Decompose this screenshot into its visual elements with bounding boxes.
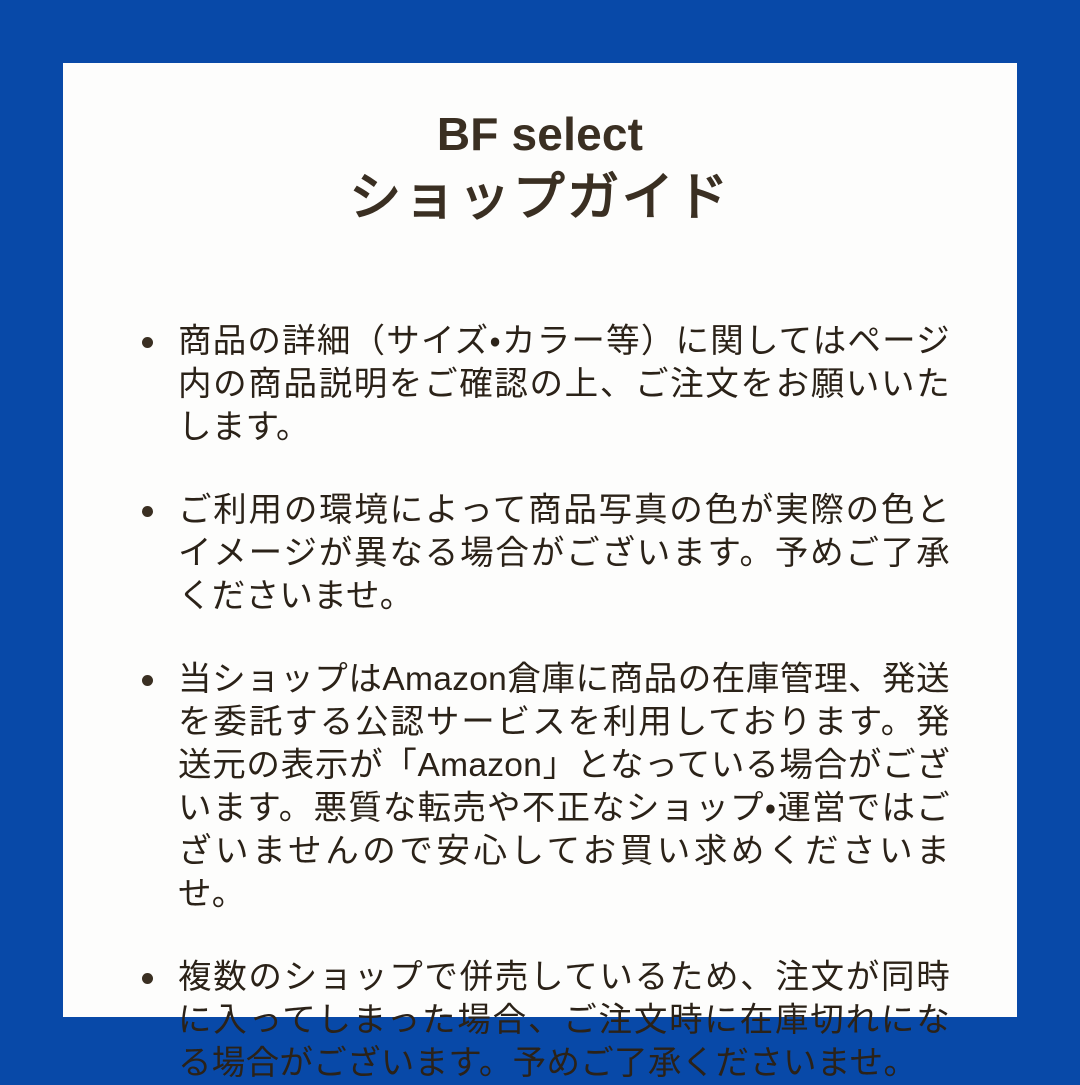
- bullet-dot-icon: [142, 506, 153, 517]
- title-japanese: ショップガイド: [63, 167, 1017, 230]
- bullet-dot-icon: [142, 973, 153, 984]
- list-item-text: 商品の詳細（サイズ・カラー等）に関してはページ内の商品説明をご確認の上、ご注文を…: [178, 320, 950, 449]
- bullet-dot-icon: [142, 675, 153, 686]
- page-title: BF select ショップガイド: [63, 108, 1017, 231]
- bullet-dot-icon: [142, 337, 153, 348]
- list-item: ご利用の環境によって商品写真の色が実際の色とイメージが異なる場合がございます。予…: [130, 489, 950, 618]
- guide-notes-list: 商品の詳細（サイズ・カラー等）に関してはページ内の商品説明をご確認の上、ご注文を…: [130, 320, 950, 1085]
- list-item-text: 当ショップはAmazon倉庫に商品の在庫管理、発送を委託する公認サービスを利用し…: [178, 658, 950, 916]
- list-item: 複数のショップで併売しているため、注文が同時に入ってしまった場合、ご注文時に在庫…: [130, 956, 950, 1085]
- list-item-text: ご利用の環境によって商品写真の色が実際の色とイメージが異なる場合がございます。予…: [178, 489, 950, 618]
- title-english: BF select: [63, 108, 1017, 161]
- list-item: 当ショップはAmazon倉庫に商品の在庫管理、発送を委託する公認サービスを利用し…: [130, 658, 950, 916]
- list-item-text: 複数のショップで併売しているため、注文が同時に入ってしまった場合、ご注文時に在庫…: [178, 956, 950, 1085]
- guide-card: BF select ショップガイド 商品の詳細（サイズ・カラー等）に関してはペー…: [63, 63, 1017, 1017]
- list-item: 商品の詳細（サイズ・カラー等）に関してはページ内の商品説明をご確認の上、ご注文を…: [130, 320, 950, 449]
- blue-border-frame: BF select ショップガイド 商品の詳細（サイズ・カラー等）に関してはペー…: [0, 0, 1080, 1080]
